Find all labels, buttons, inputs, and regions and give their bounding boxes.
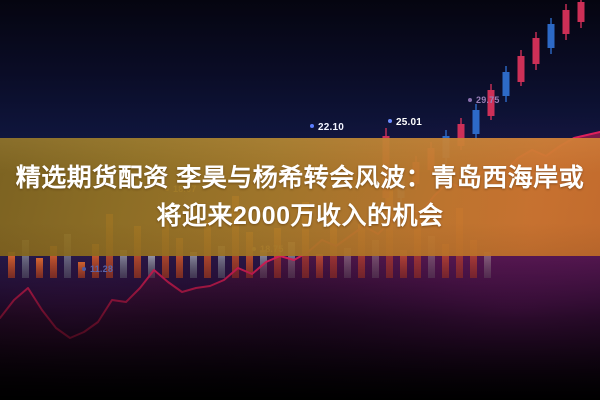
price-label-2975: 29.75 bbox=[468, 95, 500, 105]
price-label-1128-text: 11.28 bbox=[90, 264, 113, 274]
price-label-2975-text: 29.75 bbox=[476, 95, 500, 105]
price-label-1128: 11.28 bbox=[82, 264, 113, 274]
headline-line-2: 将迎来2000万收入的机会 bbox=[156, 198, 443, 234]
price-label-2501: 25.01 bbox=[388, 117, 422, 128]
headline-block: 精选期货配资 李昊与杨希转会风波：青岛西海岸或 将迎来2000万收入的机会 bbox=[0, 138, 600, 256]
headline-line-1: 精选期货配资 李昊与杨希转会风波：青岛西海岸或 bbox=[0, 160, 600, 196]
price-marker-dot-1128 bbox=[82, 267, 86, 271]
price-label-2210-text: 22.10 bbox=[318, 122, 344, 133]
price-label-2501-text: 25.01 bbox=[396, 117, 422, 128]
price-marker-dot-2501 bbox=[388, 119, 392, 123]
promo-banner-image: 22.10 25.01 29.75 18.07 18.75 11.28 精选期货… bbox=[0, 0, 600, 400]
price-label-2210: 22.10 bbox=[310, 122, 344, 133]
price-marker-dot-2210 bbox=[310, 124, 314, 128]
price-marker-dot-2975 bbox=[468, 98, 472, 102]
